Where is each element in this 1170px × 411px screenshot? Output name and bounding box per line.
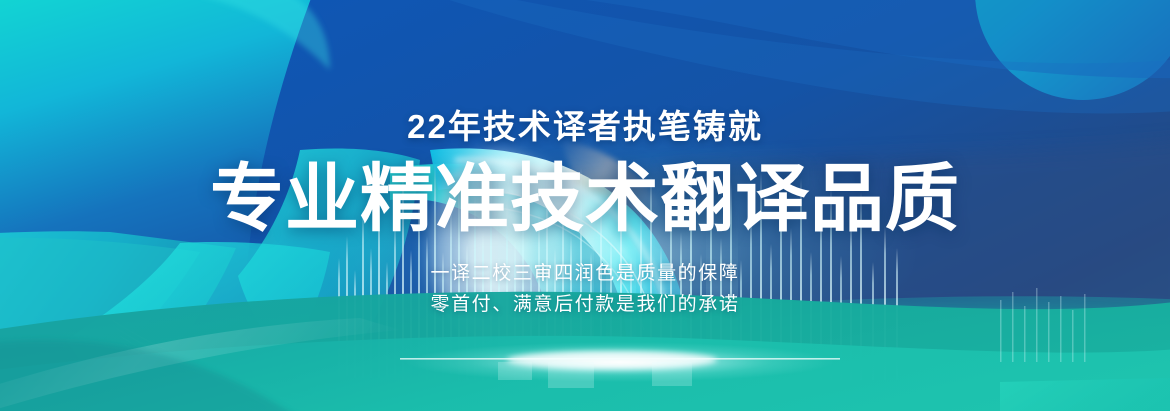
banner-background [0, 0, 1170, 411]
base-glow-line [400, 358, 840, 360]
accent-rect-right [1000, 378, 1170, 411]
promo-banner: 22年技术译者执笔铸就 专业精准技术翻译品质 一译二校三审四润色是质量的保障 零… [0, 0, 1170, 411]
